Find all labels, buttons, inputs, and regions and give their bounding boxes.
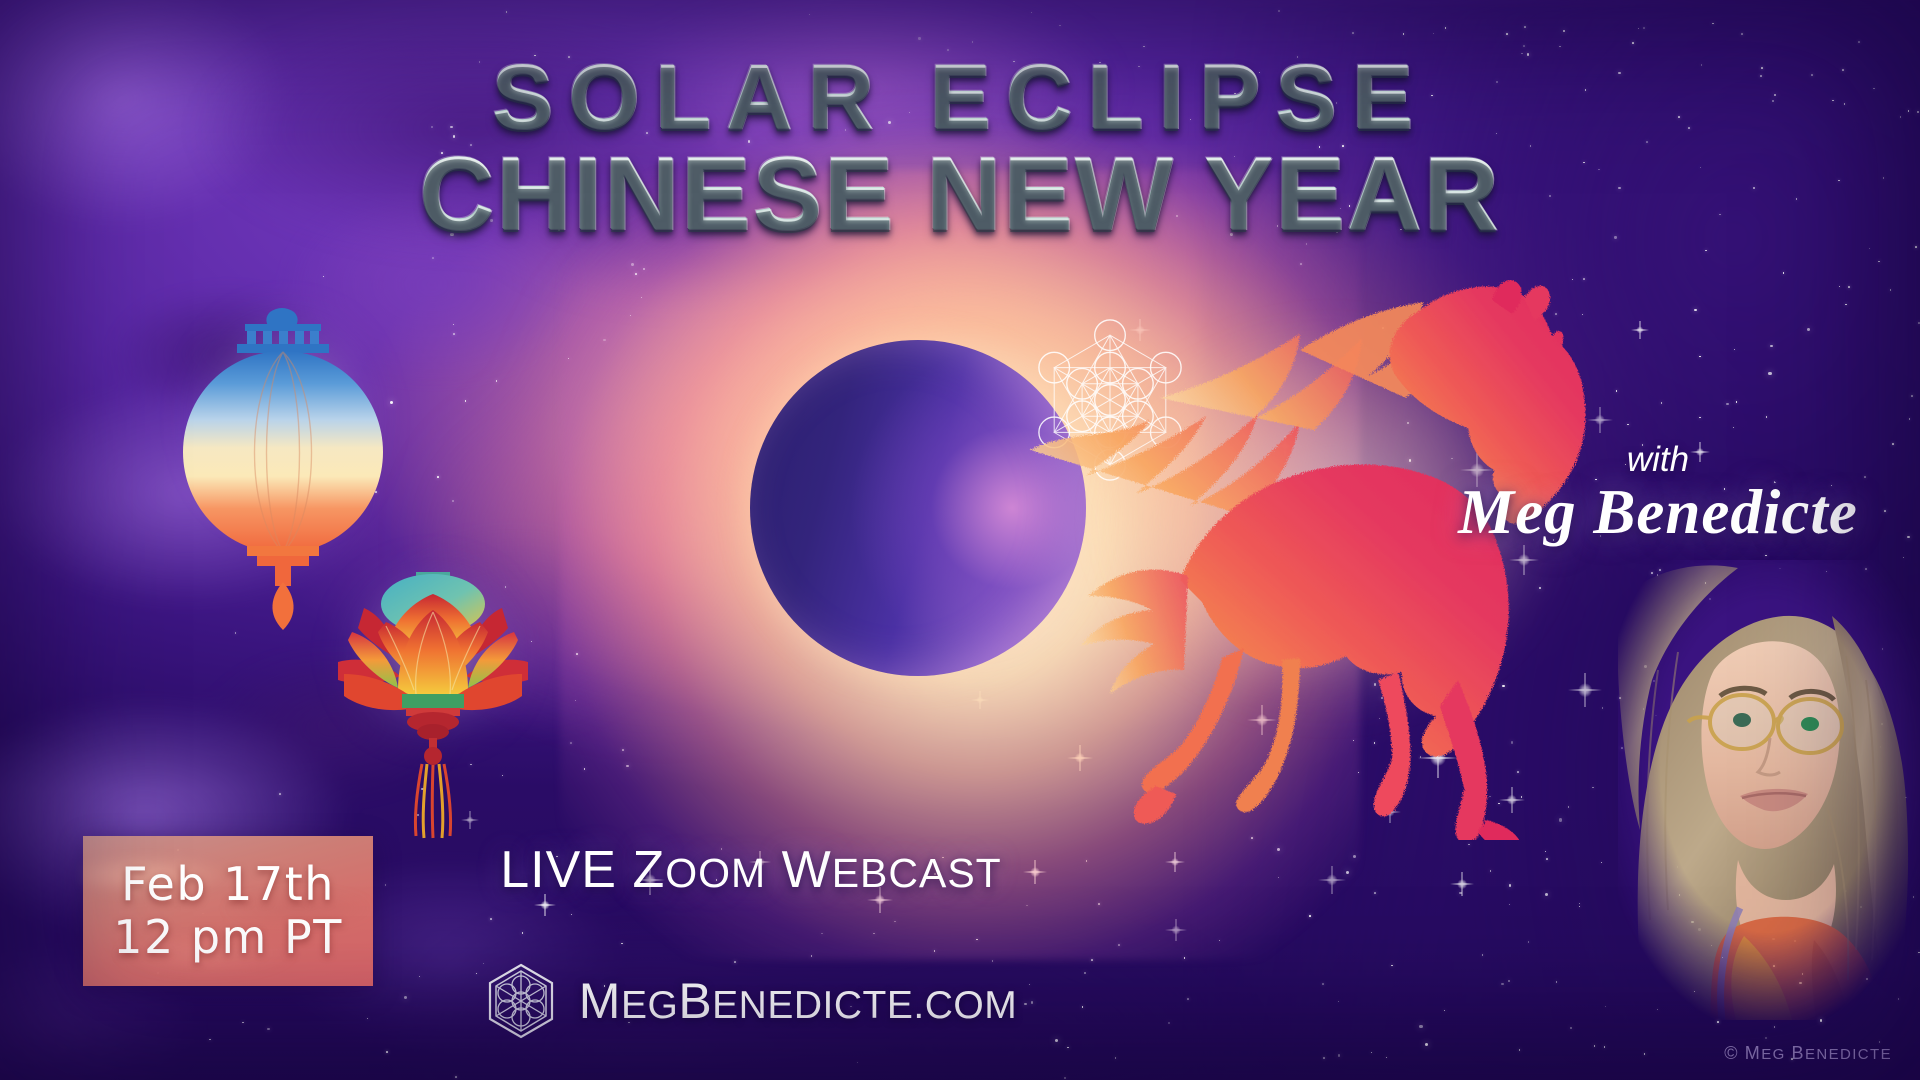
url-m: M — [579, 973, 621, 1029]
promotional-poster: SOLAR ECLIPSE CHINESE NEW YEAR with Meg … — [0, 0, 1920, 1080]
title-line-1: SOLAR ECLIPSE — [0, 52, 1920, 142]
presenter-name: Meg Benedicte — [1418, 476, 1898, 549]
format-webcast-rest: EBCAST — [832, 850, 1002, 896]
format-live: LIVE — [500, 841, 617, 899]
copyright-notice: © MEG BENEDICTE — [1724, 1043, 1892, 1064]
url-com: .COM — [913, 984, 1017, 1027]
website-row[interactable]: MEGBENEDICTE.COM — [0, 962, 1502, 1040]
copyright-m: M — [1745, 1043, 1761, 1063]
url-eg: EG — [621, 984, 678, 1027]
copyright-symbol: © — [1724, 1043, 1739, 1063]
format-zoom-rest: OOM — [665, 850, 766, 896]
presenter-credit: with Meg Benedicte — [1418, 440, 1898, 549]
presenter-prefix: with — [1418, 440, 1898, 480]
date-line-2: 12 pm PT — [113, 911, 343, 964]
website-url[interactable]: MEGBENEDICTE.COM — [579, 972, 1017, 1030]
copyright-eg: EG — [1761, 1046, 1785, 1063]
url-b: B — [678, 973, 712, 1029]
copyright-b: B — [1792, 1043, 1805, 1063]
format-label: LIVE ZOOM WEBCAST — [0, 840, 1502, 900]
lotus-paper-lantern-icon — [330, 570, 535, 840]
copyright-enedicte: ENEDICTE — [1805, 1046, 1892, 1063]
page-title: SOLAR ECLIPSE CHINESE NEW YEAR — [0, 52, 1920, 246]
presenter-portrait — [1618, 560, 1920, 1020]
url-enedicte: ENEDICTE — [712, 984, 913, 1027]
format-webcast-initial: W — [782, 841, 832, 899]
format-zoom-initial: Z — [632, 841, 665, 899]
sacred-geometry-hexagon-logo — [485, 962, 557, 1040]
watercolor-horse-icon — [1000, 280, 1660, 840]
title-line-2: CHINESE NEW YEAR — [0, 144, 1920, 246]
